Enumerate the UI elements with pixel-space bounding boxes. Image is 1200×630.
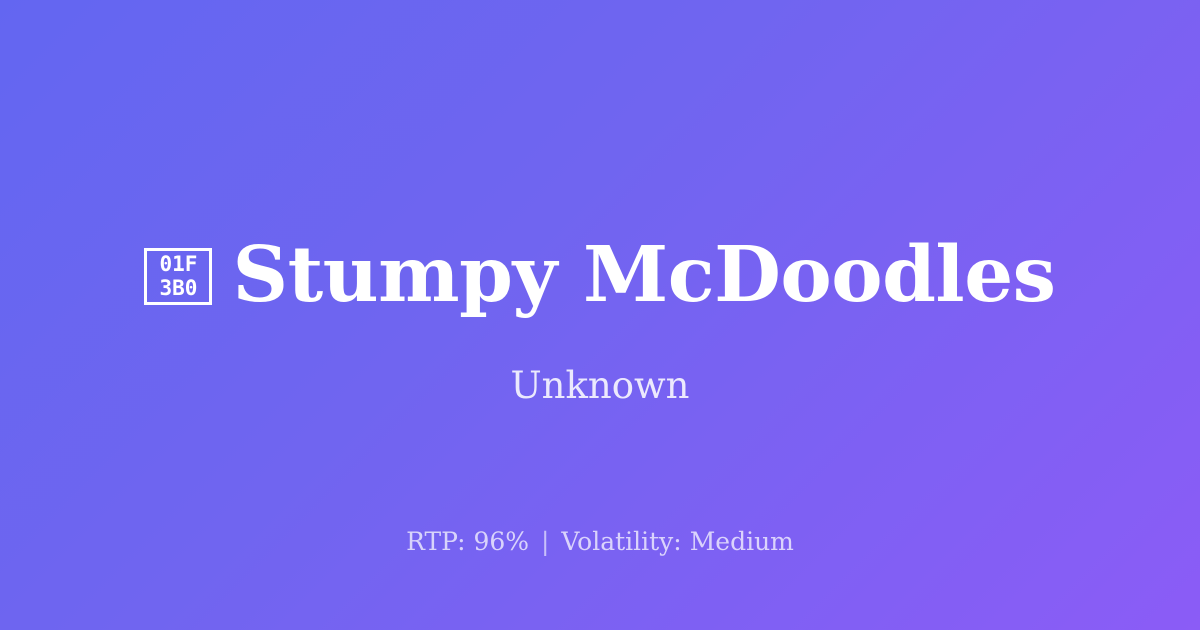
game-title: Stumpy McDoodles (232, 232, 1055, 318)
title-row: 01F 3B0 Stumpy McDoodles (0, 232, 1200, 318)
rtp-value: 96% (473, 527, 529, 556)
tofu-codepoint-line-1: 01F (160, 252, 198, 276)
og-share-card: 01F 3B0 Stumpy McDoodles Unknown RTP: 96… (0, 0, 1200, 630)
game-stats: RTP: 96% | Volatility: Medium (0, 526, 1200, 558)
game-provider: Unknown (0, 363, 1200, 409)
volatility-value: Medium (690, 527, 794, 556)
rtp-label: RTP: (406, 527, 465, 556)
volatility-label: Volatility: (561, 527, 681, 556)
slot-machine-emoji-icon: 01F 3B0 (144, 248, 212, 305)
tofu-codepoint-line-2: 3B0 (160, 276, 198, 300)
stats-separator: | (537, 527, 553, 556)
